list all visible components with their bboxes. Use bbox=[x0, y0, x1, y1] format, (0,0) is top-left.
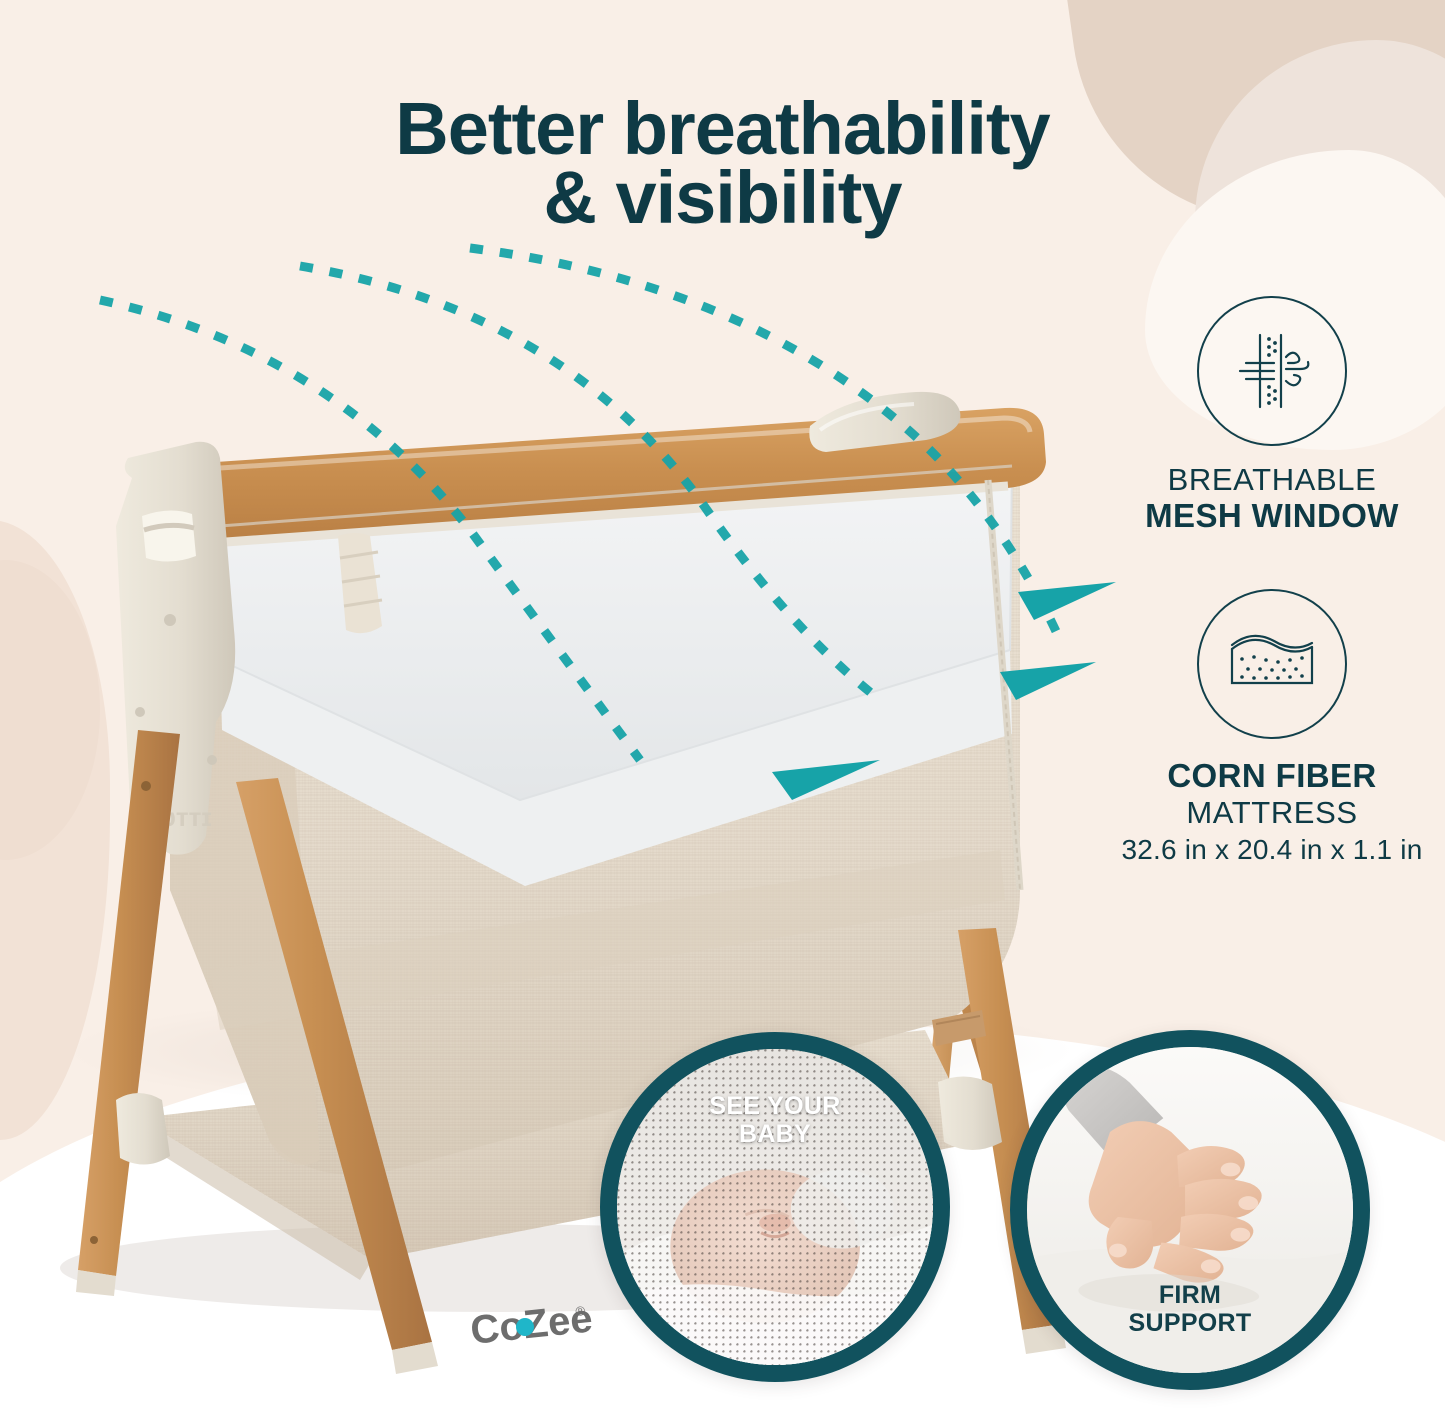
caption-firm-line-2: SUPPORT bbox=[1129, 1309, 1252, 1337]
feature-callout-list: BREATHABLE MESH WINDOW bbox=[1107, 296, 1437, 872]
feature-mattress-light-text: MATTRESS bbox=[1107, 795, 1437, 830]
inset-firm-support: FIRM SUPPORT bbox=[1010, 1030, 1370, 1390]
feature-mesh-light-text: BREATHABLE bbox=[1107, 462, 1437, 497]
corn-fiber-mattress-icon bbox=[1197, 589, 1347, 739]
svg-text:®: ® bbox=[575, 1303, 587, 1319]
feature-label-mattress: CORN FIBER MATTRESS 32.6 in x 20.4 in x … bbox=[1107, 757, 1437, 866]
caption-firm-line-1: FIRM bbox=[1159, 1281, 1221, 1309]
feature-breathable-mesh: BREATHABLE MESH WINDOW bbox=[1107, 296, 1437, 535]
product-feature-graphic: Better breathability & visibility bbox=[0, 0, 1445, 1411]
breathable-mesh-icon bbox=[1197, 296, 1347, 446]
inset-see-your-baby: SEE YOUR BABY bbox=[600, 1032, 950, 1382]
caption-baby-line-1: SEE YOUR bbox=[709, 1092, 840, 1120]
feature-mesh-bold-text: MESH WINDOW bbox=[1107, 497, 1437, 535]
headline-line-2: & visibility bbox=[0, 163, 1445, 233]
page-title: Better breathability & visibility bbox=[0, 94, 1445, 233]
feature-mattress-bold-text: CORN FIBER bbox=[1107, 757, 1437, 795]
feature-label-mesh: BREATHABLE MESH WINDOW bbox=[1107, 462, 1437, 535]
inset-caption-see-your-baby: SEE YOUR BABY bbox=[617, 1093, 933, 1148]
inset-caption-firm-support: FIRM SUPPORT bbox=[1027, 1282, 1353, 1337]
caption-baby-line-2: BABY bbox=[739, 1120, 811, 1148]
feature-mattress-dimensions: 32.6 in x 20.4 in x 1.1 in bbox=[1107, 834, 1437, 866]
feature-corn-fiber-mattress: CORN FIBER MATTRESS 32.6 in x 20.4 in x … bbox=[1107, 589, 1437, 866]
